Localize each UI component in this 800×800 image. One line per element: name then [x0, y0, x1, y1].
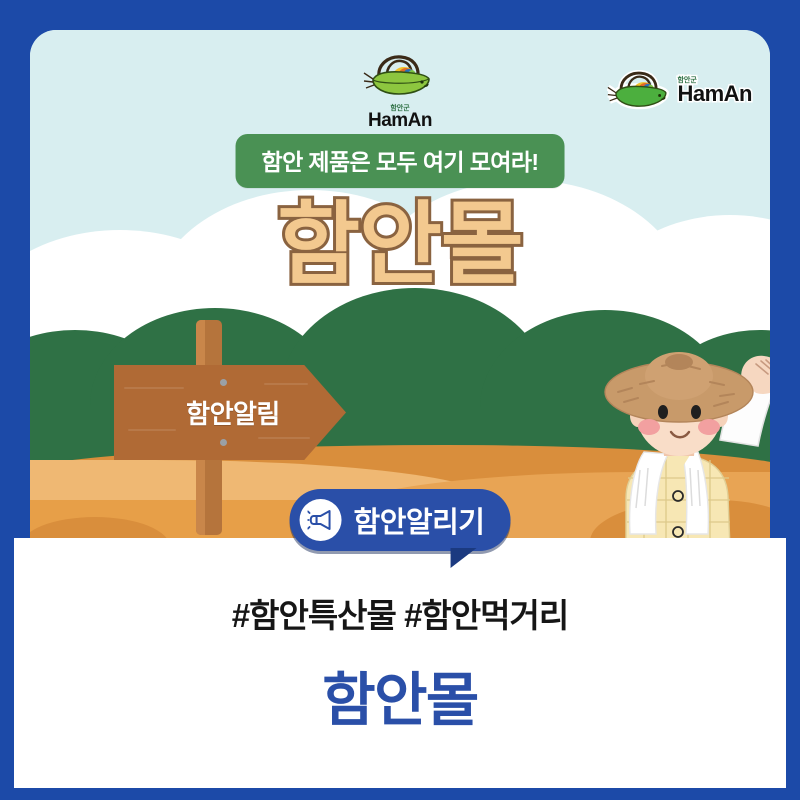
haman-wordmark-center: 함안군 HamAn	[340, 105, 460, 130]
haman-logo-center: 함안군 HamAn	[340, 54, 460, 130]
headline-text: 함안몰	[322, 653, 478, 737]
hero-panel: 함안군 HamAn	[30, 30, 770, 538]
farmer-waving-illustration	[570, 348, 770, 538]
wood-grain	[258, 437, 310, 439]
megaphone-icon	[308, 509, 334, 531]
wood-grain	[128, 429, 176, 431]
bottom-panel: #함안특산물 #함안먹거리 함안몰	[14, 538, 786, 788]
wooden-sign: 함안알림	[114, 365, 346, 460]
hero-title-text: 함안몰	[277, 195, 522, 295]
hero-banner-text: 함안 제품은 모두 여기 모여라!	[262, 149, 539, 175]
haman-logo-right: 함안군 HamAn	[607, 70, 752, 112]
haman-beetle-logo-icon	[607, 70, 673, 112]
farmer-eye-left	[658, 405, 668, 419]
wood-grain	[124, 387, 184, 389]
hero-banner: 함안 제품은 모두 여기 모여라!	[236, 134, 565, 188]
farmer-eye-right	[691, 405, 701, 419]
poster-card: 함안군 HamAn	[0, 0, 800, 800]
wood-grain	[264, 383, 308, 385]
farmer-cheek-left	[638, 419, 660, 435]
sign-screw	[220, 439, 227, 446]
haman-wordmark-text-right: HamAn	[677, 81, 752, 106]
haman-wordmark-right: 함안군 HamAn	[677, 77, 752, 105]
badge-icon-circle	[300, 499, 342, 541]
wooden-sign-text: 함안알림	[186, 394, 280, 431]
farmer-cheek-right	[698, 419, 720, 435]
haman-wordmark-text-center: HamAn	[368, 110, 432, 131]
hero-title: 함안몰	[30, 198, 770, 293]
status-badge[interactable]: 함안알리기	[290, 489, 511, 551]
badge-label: 함안알리기	[354, 499, 485, 541]
sign-screw	[220, 379, 227, 386]
farmer-hat-top	[665, 354, 693, 370]
hashtags-text: #함안특산물 #함안먹거리	[232, 589, 568, 637]
haman-beetle-logo-icon	[363, 54, 437, 100]
